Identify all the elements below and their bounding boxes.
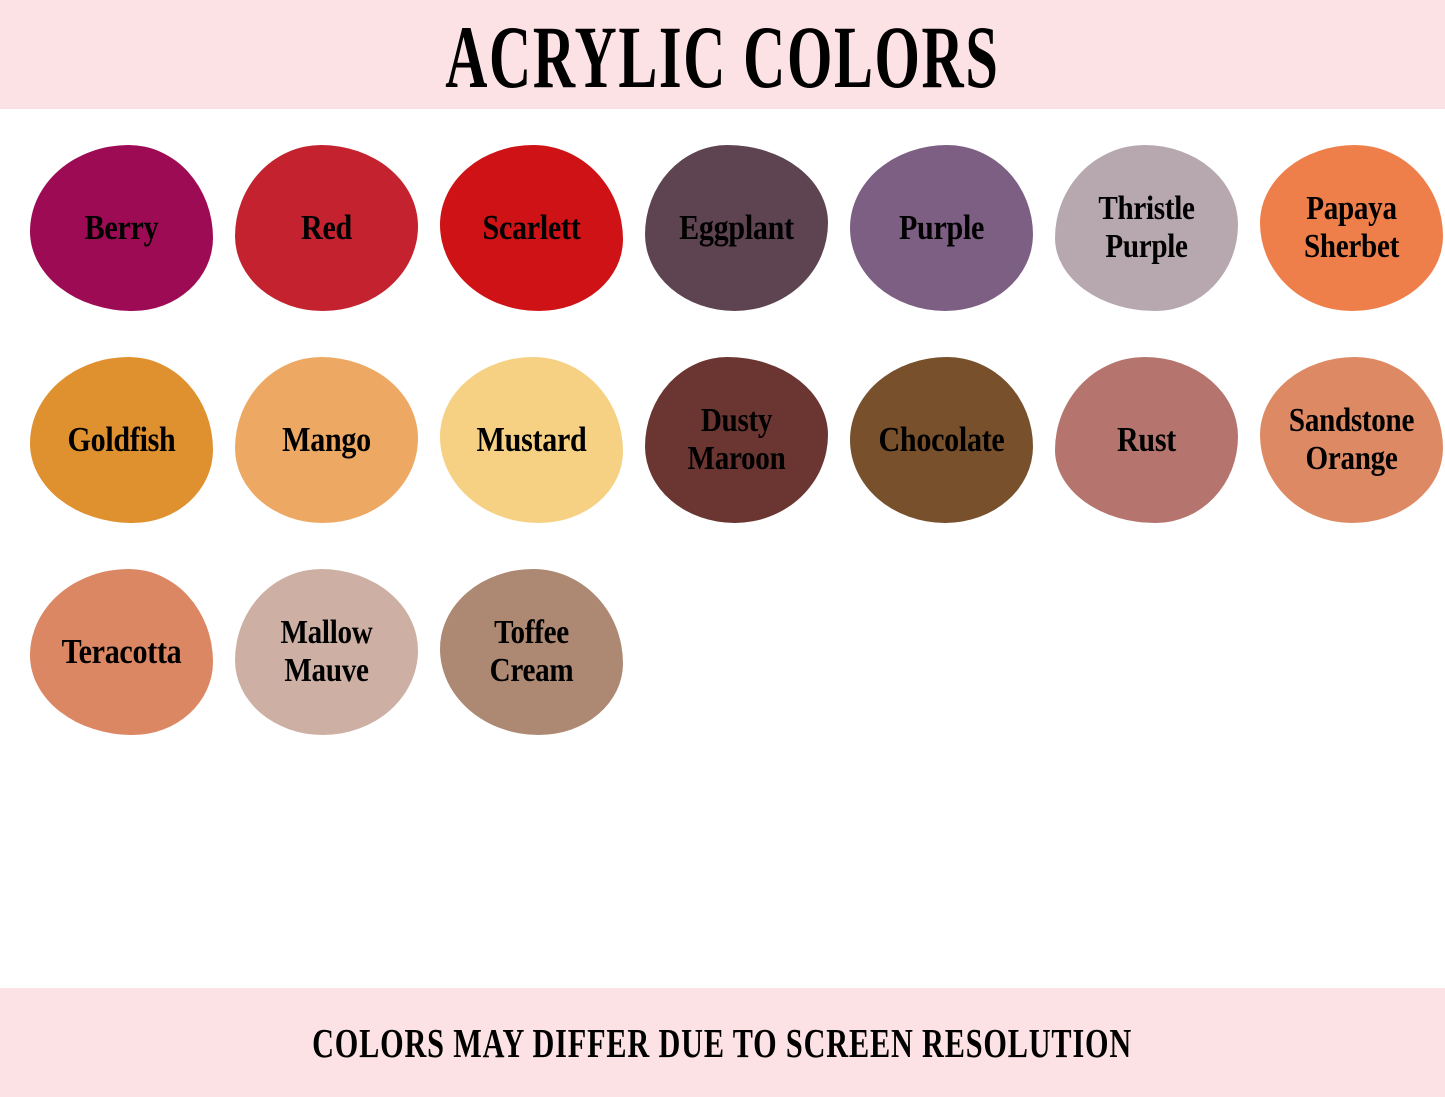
page-title: ACRYLIC COLORS xyxy=(445,8,999,102)
swatch-area: Berry Red Scarlett Eggplant Purple Thris… xyxy=(0,109,1445,988)
swatch-teracotta[interactable]: Teracotta xyxy=(30,569,213,735)
swatch-label: Mustard xyxy=(443,422,621,457)
swatch-purple[interactable]: Purple xyxy=(850,145,1033,311)
swatch-mallow-mauve[interactable]: Mallow Mauve xyxy=(235,569,418,735)
header-band: ACRYLIC COLORS xyxy=(0,0,1445,109)
footer-band: COLORS MAY DIFFER DUE TO SCREEN RESOLUTI… xyxy=(0,988,1445,1097)
swatch-mango[interactable]: Mango xyxy=(235,357,418,523)
swatch-dusty-maroon[interactable]: Dusty Maroon xyxy=(645,357,828,523)
swatch-label: Scarlett xyxy=(443,210,621,245)
swatch-label: Toffee Cream xyxy=(443,614,621,689)
swatch-papaya-sherbet[interactable]: Papaya Sherbet xyxy=(1260,145,1443,311)
swatch-label: Dusty Maroon xyxy=(648,402,826,477)
footer-disclaimer: COLORS MAY DIFFER DUE TO SCREEN RESOLUTI… xyxy=(312,1022,1132,1064)
swatch-label: Goldfish xyxy=(33,422,211,457)
swatch-label: Teracotta xyxy=(33,634,211,669)
swatch-chocolate[interactable]: Chocolate xyxy=(850,357,1033,523)
swatch-label: Purple xyxy=(853,210,1031,245)
swatch-label: Rust xyxy=(1058,422,1236,457)
swatch-label: Eggplant xyxy=(648,210,826,245)
swatch-label: Mango xyxy=(238,422,416,457)
swatch-goldfish[interactable]: Goldfish xyxy=(30,357,213,523)
color-chart-sheet: ACRYLIC COLORS Berry Red Scarlett Eggpla… xyxy=(0,0,1445,1097)
swatch-label: Sandstone Orange xyxy=(1263,402,1441,477)
swatch-row-2: Goldfish Mango Mustard Dusty Maroon Choc… xyxy=(0,357,1445,569)
swatch-sandstone-orange[interactable]: Sandstone Orange xyxy=(1260,357,1443,523)
swatch-scarlett[interactable]: Scarlett xyxy=(440,145,623,311)
swatch-berry[interactable]: Berry xyxy=(30,145,213,311)
swatch-row-3: Teracotta Mallow Mauve Toffee Cream xyxy=(0,569,1445,781)
swatch-label: Berry xyxy=(33,210,211,245)
swatch-label: Red xyxy=(238,210,416,245)
swatch-rust[interactable]: Rust xyxy=(1055,357,1238,523)
swatch-label: Chocolate xyxy=(853,422,1031,457)
swatch-label: Thristle Purple xyxy=(1058,190,1236,265)
swatch-red[interactable]: Red xyxy=(235,145,418,311)
swatch-label: Mallow Mauve xyxy=(238,614,416,689)
swatch-eggplant[interactable]: Eggplant xyxy=(645,145,828,311)
swatch-label: Papaya Sherbet xyxy=(1263,190,1441,265)
swatch-row-1: Berry Red Scarlett Eggplant Purple Thris… xyxy=(0,145,1445,357)
swatch-toffee-cream[interactable]: Toffee Cream xyxy=(440,569,623,735)
swatch-thristle-purple[interactable]: Thristle Purple xyxy=(1055,145,1238,311)
swatch-mustard[interactable]: Mustard xyxy=(440,357,623,523)
